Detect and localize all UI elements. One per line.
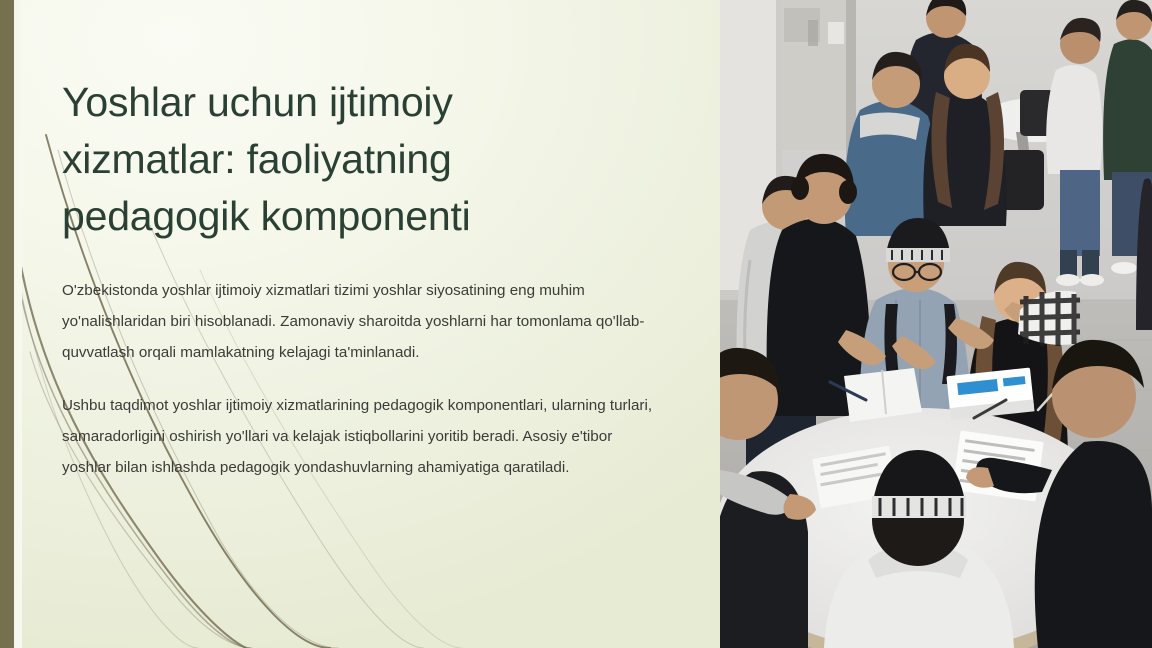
presentation-slide: Yoshlar uchun ijtimoiy xizmatlar: faoliy… (0, 0, 1152, 648)
students-group-photo-illustration (720, 0, 1152, 648)
slide-body: O'zbekistonda yoshlar ijtimoiy xizmatlar… (62, 245, 654, 483)
body-paragraph-1: O'zbekistonda yoshlar ijtimoiy xizmatlar… (62, 275, 654, 368)
slide-content-panel: Yoshlar uchun ijtimoiy xizmatlar: faoliy… (0, 0, 720, 648)
body-paragraph-2: Ushbu taqdimot yoshlar ijtimoiy xizmatla… (62, 390, 654, 483)
accent-bar (0, 0, 14, 648)
accent-bar-gap (14, 0, 22, 648)
text-block: Yoshlar uchun ijtimoiy xizmatlar: faoliy… (62, 0, 662, 483)
slide-title: Yoshlar uchun ijtimoiy xizmatlar: faoliy… (62, 0, 582, 245)
slide-photo (720, 0, 1152, 648)
